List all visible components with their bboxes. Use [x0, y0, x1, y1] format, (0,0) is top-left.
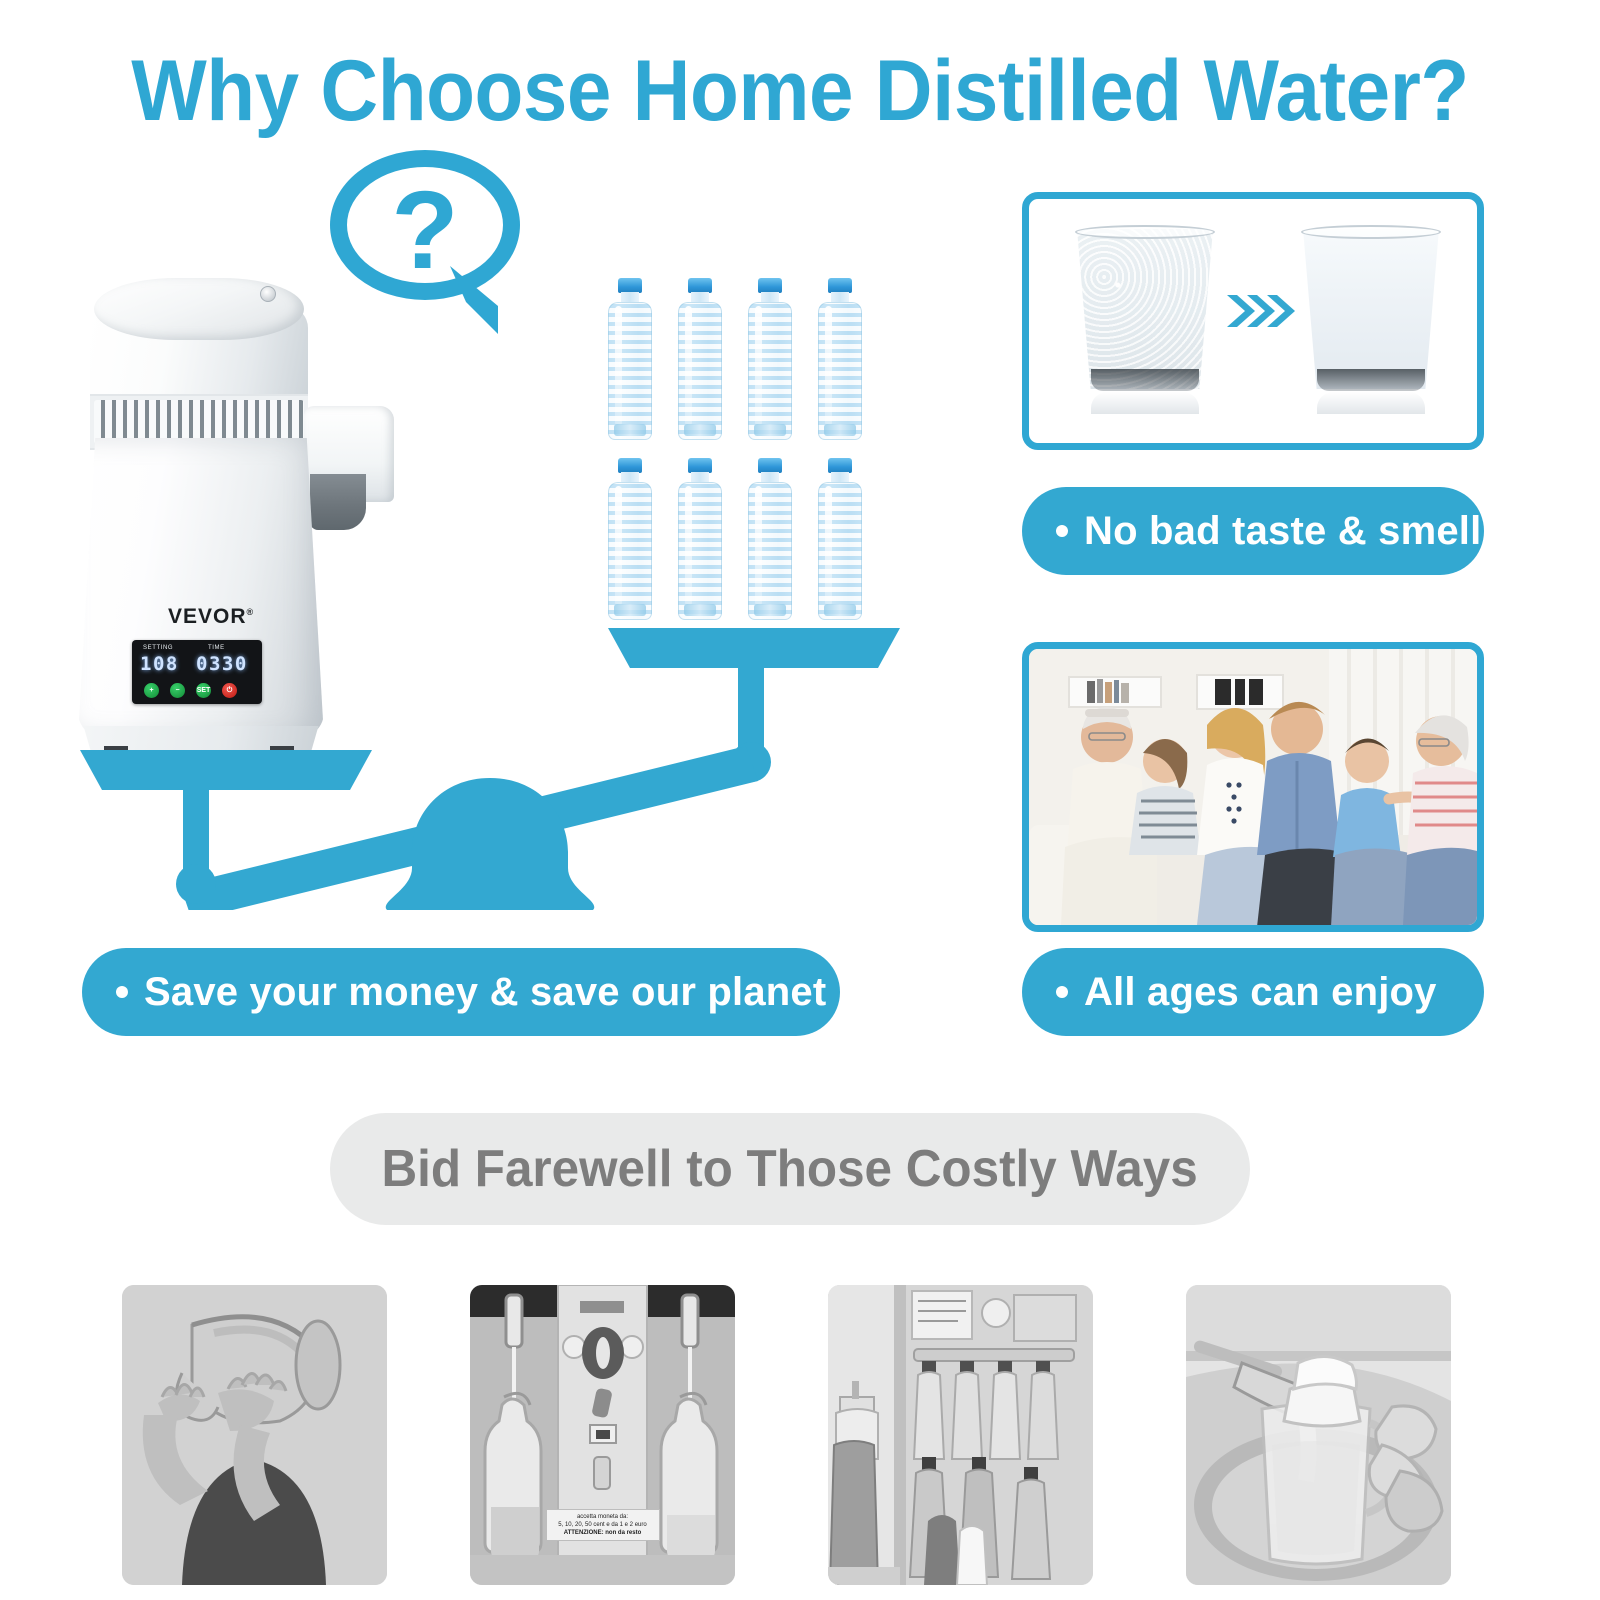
cloudy-water-glass: [1065, 229, 1225, 414]
photo-water-vending-machine: accetta moneta da: 5, 10, 20, 50 cent e …: [470, 1285, 735, 1585]
banner-label: Bid Farewell to Those Costly Ways: [382, 1139, 1198, 1199]
water-bottle: [606, 458, 654, 620]
glass-base: [1091, 369, 1199, 391]
triple-chevron-right-icon: [1225, 291, 1295, 331]
bottle-cap-icon: [828, 278, 852, 293]
bottle-cap-icon: [688, 458, 712, 473]
distiller-lid-knob-icon: [260, 286, 276, 302]
bottle-bottom: [754, 424, 786, 436]
bullet-dot-icon: [116, 986, 128, 998]
benefit-pill-save: Save your money & save our planet: [82, 948, 840, 1036]
bottle-highlight: [825, 306, 832, 426]
family-on-sofa-illustration: [1029, 649, 1477, 925]
bottle-cap-icon: [618, 458, 642, 473]
bottle-bottom: [824, 424, 856, 436]
seesaw-post-left: [183, 786, 209, 874]
benefit-label: All ages can enjoy: [1084, 970, 1437, 1015]
seesaw-pivot-left: [176, 864, 216, 904]
glass-cup: [1303, 229, 1439, 389]
photo-man-carrying-jug: [122, 1285, 387, 1585]
glass-rim: [1075, 225, 1215, 239]
benefit-pill-taste: No bad taste & smell: [1022, 487, 1484, 575]
vending-machine-sign: accetta moneta da: 5, 10, 20, 50 cent e …: [546, 1509, 660, 1541]
bottle-highlight: [615, 486, 622, 606]
benefit-label: Save your money & save our planet: [144, 970, 826, 1015]
water-bottle: [816, 278, 864, 440]
distiller-vent-slots: [94, 400, 304, 444]
costly-ways-banner: Bid Farewell to Those Costly Ways: [330, 1113, 1250, 1225]
glass-reflection: [1091, 392, 1199, 414]
bottle-bottom: [684, 424, 716, 436]
stacked-jugs-illustration: [828, 1285, 1093, 1585]
bottle-highlight: [685, 486, 692, 606]
photo-filter-pitcher-at-tap: [1186, 1285, 1451, 1585]
bottle-bottom: [614, 424, 646, 436]
bottle-highlight: [825, 486, 832, 606]
sign-line-3: ATTENZIONE: non da resto: [564, 1530, 642, 1536]
glass-base: [1317, 369, 1425, 391]
sign-line-1: accetta moneta da:: [547, 1513, 659, 1521]
plastic-bottles-group: [606, 278, 876, 630]
seesaw-post-right: [738, 662, 764, 754]
costly-ways-photo-strip: accetta moneta da: 5, 10, 20, 50 cent e …: [0, 1285, 1600, 1585]
bottle-cap-icon: [618, 278, 642, 293]
bottle-cap-icon: [758, 458, 782, 473]
photo-stacked-water-jugs: [828, 1285, 1093, 1585]
water-bottle: [676, 458, 724, 620]
bottle-cap-icon: [758, 278, 782, 293]
water-bottle: [676, 278, 724, 440]
bottle-highlight: [685, 306, 692, 426]
bullet-dot-icon: [1056, 986, 1068, 998]
water-comparison-box: [1022, 192, 1484, 450]
infographic-page: Why Choose Home Distilled Water? ? VEVOR…: [0, 0, 1600, 1600]
bottle-highlight: [615, 306, 622, 426]
distiller-spout-nozzle: [310, 474, 366, 530]
glass-reflection: [1317, 392, 1425, 414]
bottle-cap-icon: [688, 278, 712, 293]
water-bottle: [746, 278, 794, 440]
filter-pitcher-illustration: [1186, 1285, 1451, 1585]
clear-water-glass: [1291, 229, 1451, 414]
water-bottle: [816, 458, 864, 620]
bullet-dot-icon: [1056, 525, 1068, 537]
water-bottle: [746, 458, 794, 620]
bottle-highlight: [755, 306, 762, 426]
sign-line-2: 5, 10, 20, 50 cent e da 1 e 2 euro: [547, 1521, 659, 1529]
family-photo-box: [1022, 642, 1484, 932]
glass-rim: [1301, 225, 1441, 239]
balance-seesaw-graphic: [70, 600, 910, 910]
benefit-pill-ages: All ages can enjoy: [1022, 948, 1484, 1036]
page-title: Why Choose Home Distilled Water?: [56, 46, 1544, 136]
bottle-highlight: [755, 486, 762, 606]
benefit-label: No bad taste & smell: [1084, 509, 1481, 554]
man-carrying-water-jug-illustration: [122, 1285, 387, 1585]
bottle-cap-icon: [828, 458, 852, 473]
water-bottle: [606, 278, 654, 440]
seesaw-pan-left: [80, 750, 372, 790]
glass-cup: [1077, 229, 1213, 389]
